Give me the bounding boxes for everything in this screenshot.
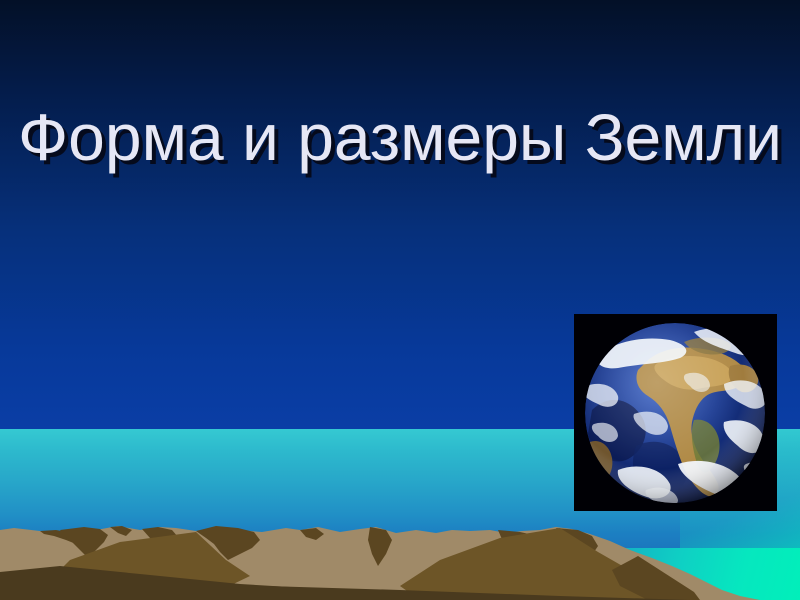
page-title: Форма и размеры Земли bbox=[0, 96, 800, 179]
mountain-range-silhouette bbox=[0, 500, 800, 600]
presentation-slide: Форма и размеры Земли bbox=[0, 0, 800, 600]
earth-globe-graphic bbox=[574, 314, 777, 511]
earth-photo bbox=[574, 314, 777, 511]
